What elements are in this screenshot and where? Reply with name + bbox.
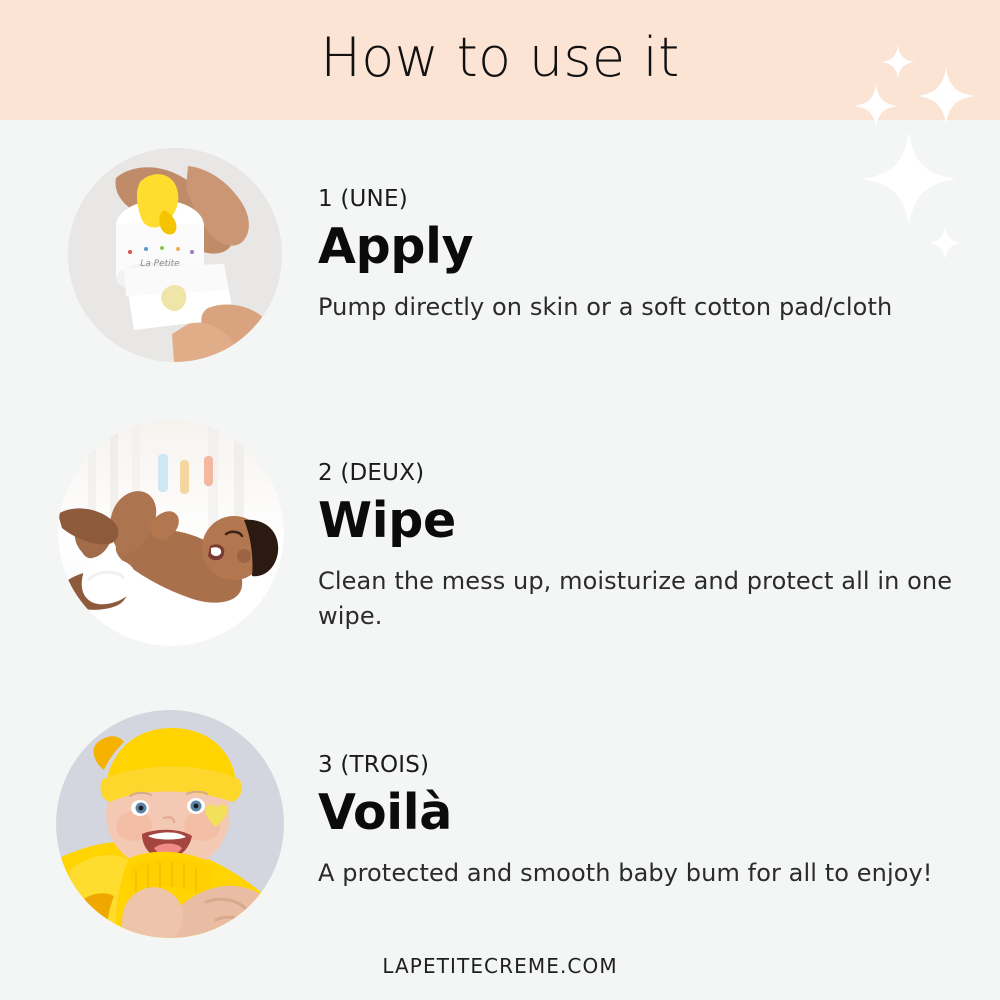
step-2-text-block: 2 (DEUX) Wipe Clean the mess up, moistur… [318, 460, 968, 633]
step-2-description: Clean the mess up, moisturize and protec… [318, 564, 968, 632]
step-3-text-block: 3 (TROIS) Voilà A protected and smooth b… [318, 752, 968, 891]
step-item-2: 2 (DEUX) Wipe Clean the mess up, moistur… [0, 420, 1000, 646]
step-2-label: 2 (DEUX) [318, 460, 968, 488]
footer-website-label[interactable]: LAPETITECREME.COM [382, 954, 617, 978]
step-1-description: Pump directly on skin or a soft cotton p… [318, 290, 968, 324]
page-footer: LAPETITECREME.COM [0, 954, 1000, 978]
step-1-text-block: 1 (UNE) Apply Pump directly on skin or a… [318, 186, 968, 325]
page-header: How to use it [0, 0, 1000, 120]
step-1-image: La Petite [68, 148, 282, 362]
step-3-image [56, 710, 284, 938]
step-1-label: 1 (UNE) [318, 186, 968, 214]
step-2-image [58, 420, 284, 646]
step-1-heading: Apply [318, 220, 968, 275]
step-item-3: 3 (TROIS) Voilà A protected and smooth b… [0, 710, 1000, 938]
how-to-use-infographic: How to use it [0, 0, 1000, 1000]
step-3-label: 3 (TROIS) [318, 752, 968, 780]
step-item-1: La Petite 1 (UN [0, 148, 1000, 362]
step-3-description: A protected and smooth baby bum for all … [318, 856, 968, 890]
step-3-heading: Voilà [318, 786, 968, 841]
step-2-heading: Wipe [318, 494, 968, 549]
page-title: How to use it [320, 31, 679, 85]
